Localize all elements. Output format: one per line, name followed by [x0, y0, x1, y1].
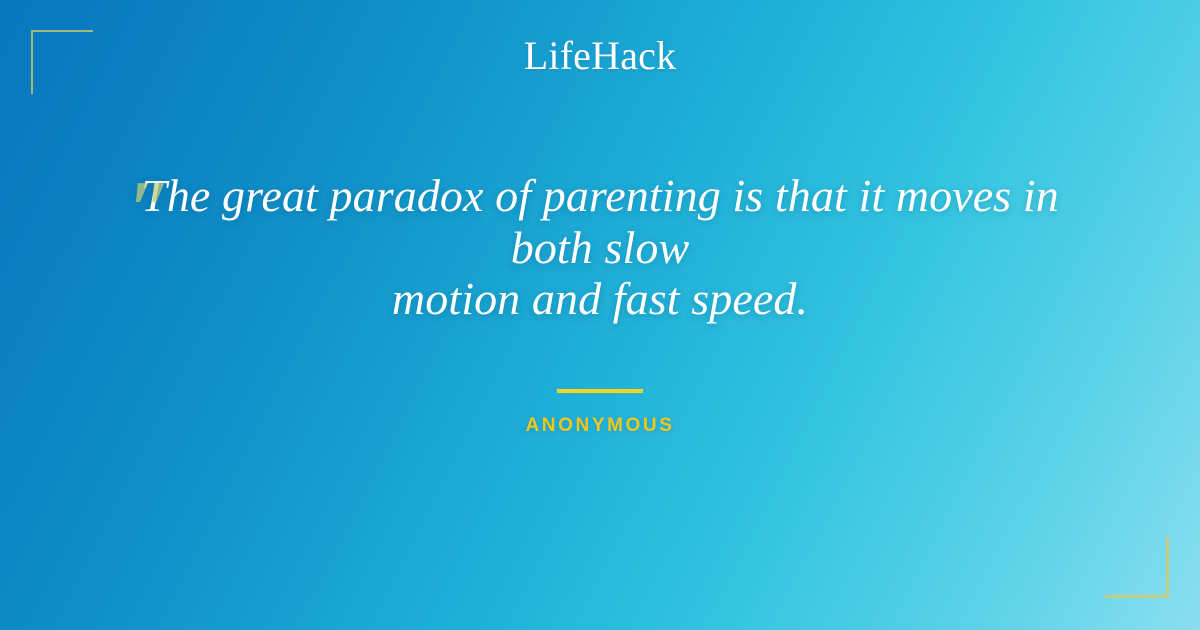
brand-name: LifeHack — [524, 36, 677, 76]
quote-line-2: motion and fast speed. — [100, 273, 1100, 325]
quote-attribution: ANONYMOUS — [0, 415, 1200, 437]
quote-poster: LifeHack ″ The great paradox of parentin… — [0, 0, 1200, 630]
divider — [557, 389, 643, 393]
quotation-mark-icon: ″ — [128, 170, 172, 250]
brand-logo: LifeHack — [0, 36, 1200, 76]
quote-line-1: The great paradox of parenting is that i… — [100, 170, 1100, 273]
quote-text: The great paradox of parenting is that i… — [0, 170, 1200, 325]
corner-bracket-bottom-right-icon — [1105, 537, 1169, 598]
quote-block: ″ The great paradox of parenting is that… — [0, 170, 1200, 437]
